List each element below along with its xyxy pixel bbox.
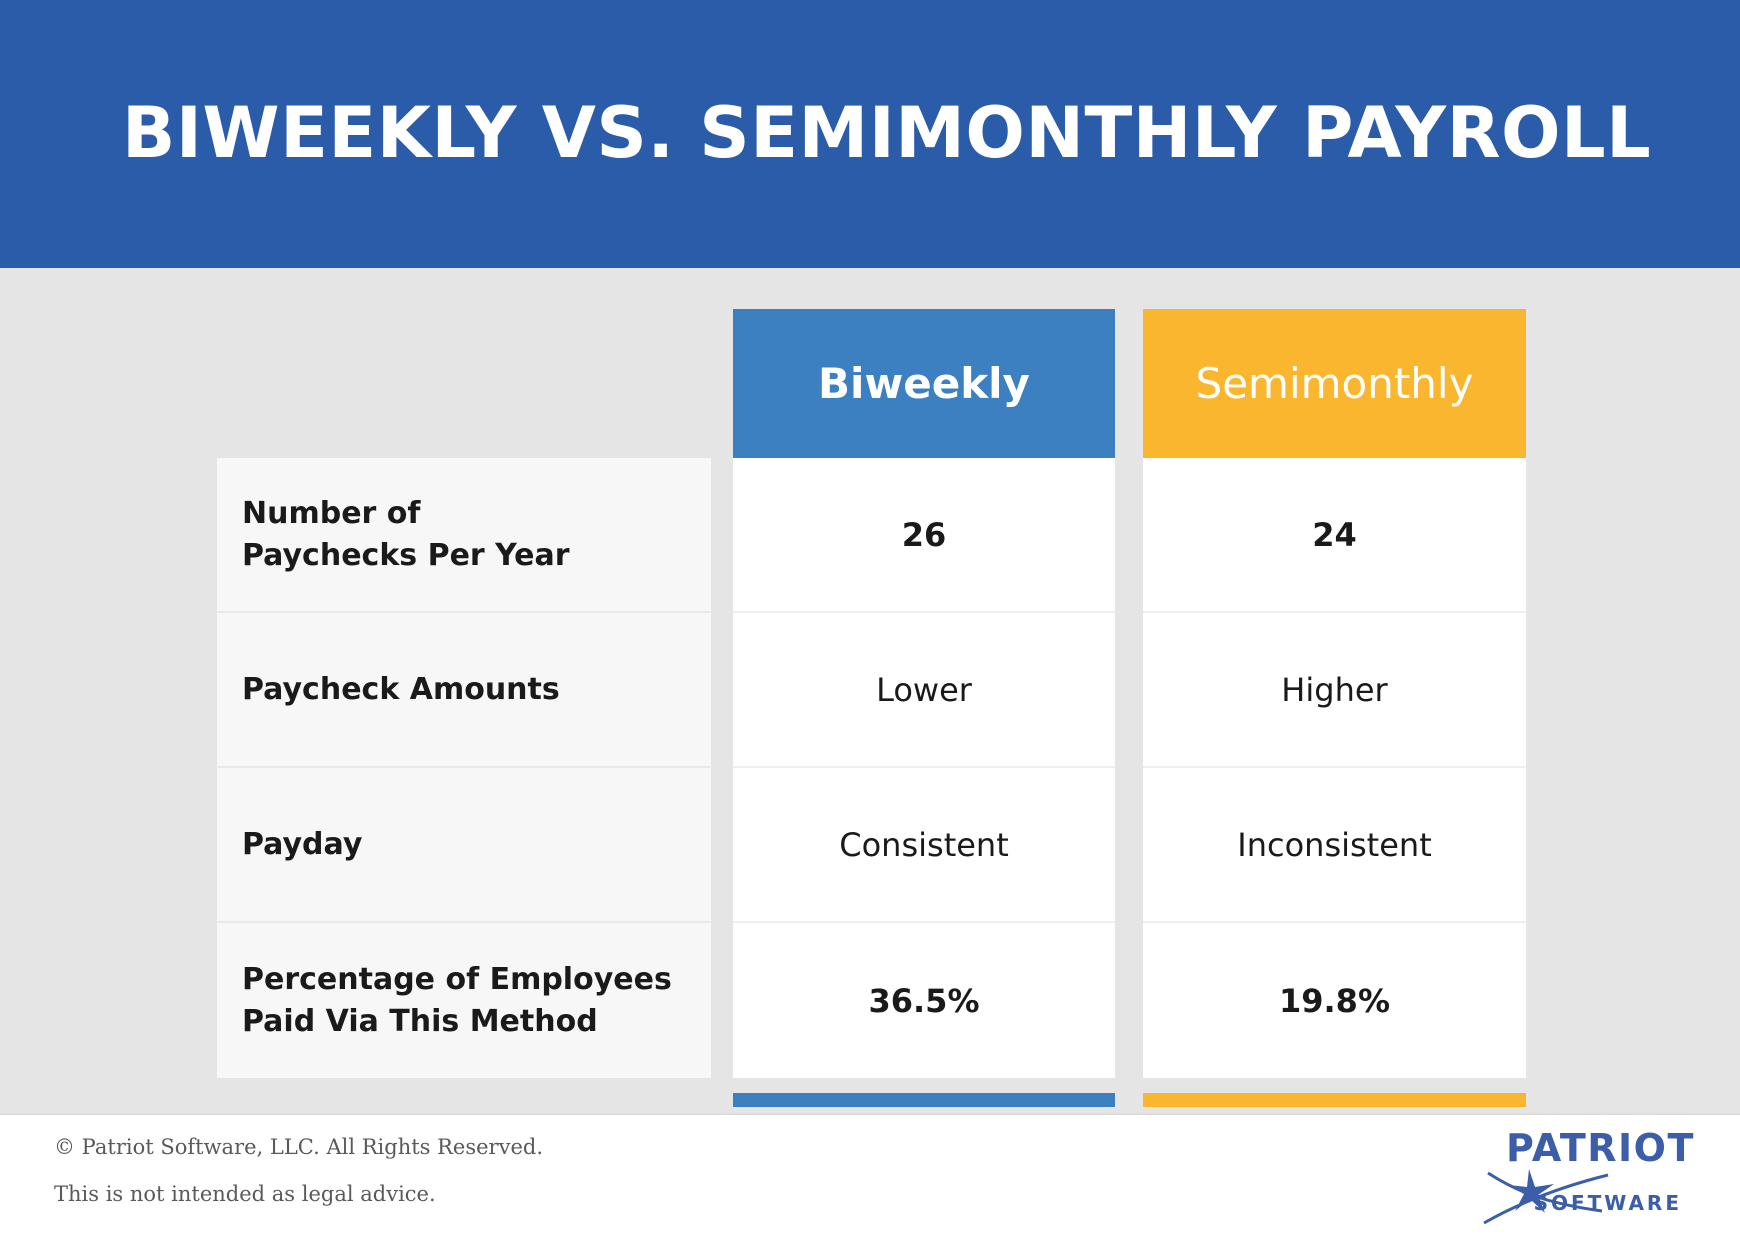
copyright-text: © Patriot Software, LLC. All Rights Rese… [54, 1137, 543, 1158]
value-text: Inconsistent [1237, 826, 1431, 864]
patriot-software-logo: PATRIOT SOFTWARE [1482, 1129, 1682, 1225]
value-cell: Higher [1143, 613, 1526, 768]
value-text: Higher [1281, 671, 1387, 709]
row-label-line2: Paid Via This Method [242, 1004, 598, 1039]
row-label-text: Paycheck Amounts [242, 669, 560, 710]
column-header-biweekly: Biweekly [733, 309, 1115, 458]
infographic-root: BIWEEKLY VS. SEMIMONTHLY PAYROLL Biweekl… [0, 0, 1740, 1232]
column-header-biweekly-label: Biweekly [818, 359, 1030, 408]
value-cell: Lower [733, 613, 1115, 768]
row-label-cell: Number of Paychecks Per Year [217, 458, 711, 613]
value-cell: 24 [1143, 458, 1526, 613]
row-label-text: Percentage of Employees Paid Via This Me… [242, 959, 672, 1042]
row-label-column: Number of Paychecks Per Year Paycheck Am… [217, 458, 711, 1078]
value-cell: Inconsistent [1143, 768, 1526, 923]
accent-bar-biweekly [733, 1093, 1115, 1107]
row-label-cell: Payday [217, 768, 711, 923]
value-cell: Consistent [733, 768, 1115, 923]
column-header-semimonthly: Semimonthly [1143, 309, 1526, 458]
footer: © Patriot Software, LLC. All Rights Rese… [0, 1113, 1740, 1234]
row-label-line1: Number of [242, 496, 420, 531]
page-title: BIWEEKLY VS. SEMIMONTHLY PAYROLL [122, 97, 1651, 171]
row-label-cell: Paycheck Amounts [217, 613, 711, 768]
row-label-line2: Paychecks Per Year [242, 538, 570, 573]
value-text: 36.5% [868, 982, 979, 1020]
value-cell: 26 [733, 458, 1115, 613]
logo-subtext: SOFTWARE [1534, 1193, 1682, 1213]
value-text: 19.8% [1279, 982, 1390, 1020]
comparison-table: Biweekly Semimonthly Number of Paychecks… [0, 268, 1740, 1113]
value-cell: 36.5% [733, 923, 1115, 1078]
footer-legal-text: © Patriot Software, LLC. All Rights Rese… [54, 1137, 543, 1231]
column-header-semimonthly-label: Semimonthly [1196, 359, 1474, 408]
value-cell: 19.8% [1143, 923, 1526, 1078]
row-label-line1: Payday [242, 827, 362, 862]
row-label-text: Payday [242, 824, 362, 865]
value-text: Lower [876, 671, 972, 709]
value-text: Consistent [839, 826, 1009, 864]
value-text: 26 [902, 516, 947, 554]
value-column-biweekly: 26 Lower Consistent 36.5% [733, 458, 1115, 1078]
row-label-text: Number of Paychecks Per Year [242, 493, 570, 576]
value-column-semimonthly: 24 Higher Inconsistent 19.8% [1143, 458, 1526, 1078]
accent-bar-semimonthly [1143, 1093, 1526, 1107]
disclaimer-text: This is not intended as legal advice. [54, 1184, 543, 1205]
title-band: BIWEEKLY VS. SEMIMONTHLY PAYROLL [0, 0, 1740, 268]
row-label-line1: Paycheck Amounts [242, 672, 560, 707]
logo-wordmark: PATRIOT [1506, 1129, 1695, 1167]
row-label-line1: Percentage of Employees [242, 962, 672, 997]
value-text: 24 [1312, 516, 1357, 554]
row-label-cell: Percentage of Employees Paid Via This Me… [217, 923, 711, 1078]
